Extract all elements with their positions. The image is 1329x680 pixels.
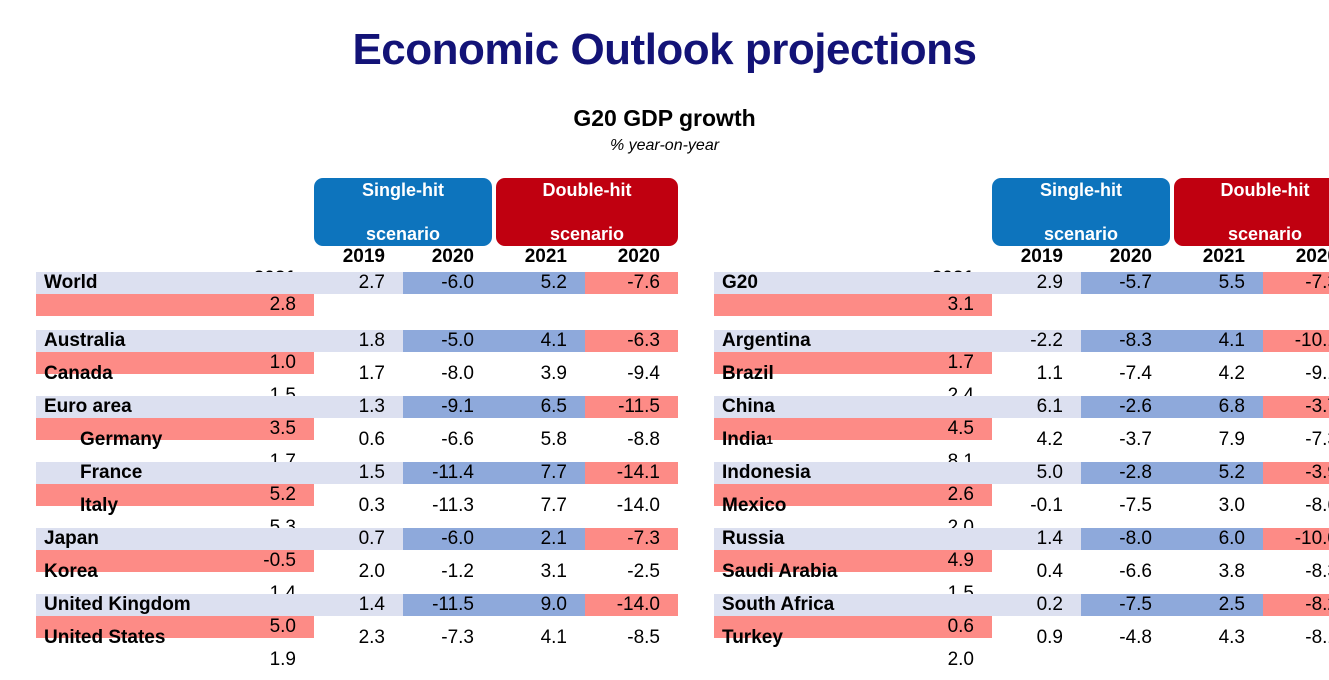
right-table-panel: Single-hit scenario Double-hit scenario … xyxy=(714,178,1329,660)
row-label: United States xyxy=(36,627,314,649)
row-label: G20 xyxy=(714,272,992,294)
table-row: India14.2-3.77.9-7.38.1 xyxy=(714,429,1329,462)
table-row: China6.1-2.66.8-3.74.5 xyxy=(714,396,1329,429)
cell-value: 5.5 xyxy=(1170,272,1263,294)
badge-double-hit-left: Double-hit scenario xyxy=(496,178,678,246)
chart-units-label: % year-on-year xyxy=(0,136,1329,156)
cell-value: 1.1 xyxy=(992,363,1081,385)
cell-value xyxy=(585,305,678,318)
left-table-panel: Single-hit scenario Double-hit scenario … xyxy=(36,178,678,660)
table-spacer-row xyxy=(36,305,678,330)
table-row: Japan0.7-6.02.1-7.3-0.5 xyxy=(36,528,678,561)
badge-single-hit-line1-left: Single-hit xyxy=(362,179,444,201)
cell-value: -7.5 xyxy=(1081,594,1170,616)
cell-value: 7.7 xyxy=(492,462,585,484)
cell-value xyxy=(1263,305,1329,318)
cell-value: 5.8 xyxy=(492,429,585,451)
cell-value: -3.7 xyxy=(1081,429,1170,451)
right-scenario-badges: Single-hit scenario Double-hit scenario xyxy=(714,178,1329,246)
table-row: Argentina-2.2-8.34.1-10.11.7 xyxy=(714,330,1329,363)
row-label: China xyxy=(714,396,992,418)
cell-value: -6.0 xyxy=(403,528,492,550)
badge-single-hit-line1-right: Single-hit xyxy=(1040,179,1122,201)
cell-value xyxy=(314,305,403,318)
table-spacer-row xyxy=(714,305,1329,330)
cell-value xyxy=(492,305,585,318)
cell-value: 2.3 xyxy=(314,627,403,649)
cell-value: 3.1 xyxy=(492,561,585,583)
cell-value: -8.3 xyxy=(1263,561,1329,583)
cell-value: -1.2 xyxy=(403,561,492,583)
left-table-body: World2.7-6.05.2-7.62.8Australia1.8-5.04.… xyxy=(36,272,678,660)
cell-value: 6.1 xyxy=(992,396,1081,418)
cell-value: 6.5 xyxy=(492,396,585,418)
row-label: Mexico xyxy=(714,495,992,517)
chart-subtitle: G20 GDP growth xyxy=(0,104,1329,132)
table-row: Canada1.7-8.03.9-9.41.5 xyxy=(36,363,678,396)
row-label: United Kingdom xyxy=(36,594,314,616)
row-label: Australia xyxy=(36,330,314,352)
table-row: South Africa0.2-7.52.5-8.20.6 xyxy=(714,594,1329,627)
table-row: Italy0.3-11.37.7-14.05.3 xyxy=(36,495,678,528)
cell-value: -11.4 xyxy=(403,462,492,484)
cell-value: -11.3 xyxy=(403,495,492,517)
badge-double-hit-right: Double-hit scenario xyxy=(1174,178,1329,246)
cell-value: -4.8 xyxy=(1081,627,1170,649)
table-row: World2.7-6.05.2-7.62.8 xyxy=(36,272,678,305)
row-label: France xyxy=(36,462,314,484)
row-label: India1 xyxy=(714,429,992,451)
row-label: Saudi Arabia xyxy=(714,561,992,583)
row-label: Argentina xyxy=(714,330,992,352)
cell-value: -3.7 xyxy=(1263,396,1329,418)
cell-value: 4.2 xyxy=(992,429,1081,451)
cell-value: -14.0 xyxy=(585,495,678,517)
cell-value: -7.3 xyxy=(403,627,492,649)
cell-value: 0.4 xyxy=(992,561,1081,583)
cell-value: -6.6 xyxy=(403,429,492,451)
cell-value: 3.0 xyxy=(1170,495,1263,517)
cell-value xyxy=(403,305,492,318)
table-row: Australia1.8-5.04.1-6.31.0 xyxy=(36,330,678,363)
left-column-headers: 2019 2020 2021 2020 2021 xyxy=(36,246,678,272)
cell-value: 4.1 xyxy=(492,330,585,352)
cell-value xyxy=(36,318,314,331)
badge-single-hit-line2-left: scenario xyxy=(362,223,444,245)
row-label: Japan xyxy=(36,528,314,550)
row-label: Turkey xyxy=(714,627,992,649)
cell-value: -9.1 xyxy=(403,396,492,418)
table-row: Germany0.6-6.65.8-8.81.7 xyxy=(36,429,678,462)
cell-value: 1.8 xyxy=(314,330,403,352)
slide-root: Economic Outlook projections G20 GDP gro… xyxy=(0,0,1329,680)
badge-double-hit-line2-right: scenario xyxy=(1221,223,1310,245)
table-row: France1.5-11.47.7-14.15.2 xyxy=(36,462,678,495)
cell-value: -8.6 xyxy=(1263,495,1329,517)
badge-single-hit-right: Single-hit scenario xyxy=(992,178,1170,246)
cell-value: 6.0 xyxy=(1170,528,1263,550)
badge-double-hit-line2-left: scenario xyxy=(543,223,632,245)
cell-value: -6.0 xyxy=(403,272,492,294)
table-row: United Kingdom1.4-11.59.0-14.05.0 xyxy=(36,594,678,627)
cell-value: 1.7 xyxy=(314,363,403,385)
cell-value: -8.8 xyxy=(585,429,678,451)
table-row: United States2.3-7.34.1-8.51.9 xyxy=(36,627,678,660)
cell-value: -11.5 xyxy=(403,594,492,616)
cell-value xyxy=(992,305,1081,318)
cell-value: 4.1 xyxy=(492,627,585,649)
cell-value: -7.3 xyxy=(585,528,678,550)
page-title: Economic Outlook projections xyxy=(0,24,1329,76)
row-label: Korea xyxy=(36,561,314,583)
table-row: Russia1.4-8.06.0-10.04.9 xyxy=(714,528,1329,561)
right-header-single-2021: 2021 xyxy=(1170,246,1263,268)
table-row: Korea2.0-1.23.1-2.51.4 xyxy=(36,561,678,594)
cell-value: 4.2 xyxy=(1170,363,1263,385)
badge-single-hit-line2-right: scenario xyxy=(1040,223,1122,245)
cell-value: -8.1 xyxy=(1263,627,1329,649)
cell-value: 1.5 xyxy=(314,462,403,484)
cell-value: -7.5 xyxy=(1081,495,1170,517)
cell-value: 4.3 xyxy=(1170,627,1263,649)
cell-value: 7.7 xyxy=(492,495,585,517)
table-row: Indonesia5.0-2.85.2-3.92.6 xyxy=(714,462,1329,495)
table-row: Saudi Arabia0.4-6.63.8-8.31.5 xyxy=(714,561,1329,594)
cell-value: -7.3 xyxy=(1263,272,1329,294)
table-row: Brazil1.1-7.44.2-9.12.4 xyxy=(714,363,1329,396)
row-label xyxy=(36,305,314,318)
cell-value: 2.5 xyxy=(1170,594,1263,616)
row-label: South Africa xyxy=(714,594,992,616)
left-header-label-spacer xyxy=(36,246,314,268)
cell-value: -14.0 xyxy=(585,594,678,616)
table-row: Turkey0.9-4.84.3-8.12.0 xyxy=(714,627,1329,660)
row-label xyxy=(714,305,992,318)
cell-value: -2.8 xyxy=(1081,462,1170,484)
badge-single-hit-left: Single-hit scenario xyxy=(314,178,492,246)
right-table-body: G202.9-5.75.5-7.33.1Argentina-2.2-8.34.1… xyxy=(714,272,1329,660)
row-label: Italy xyxy=(36,495,314,517)
cell-value: 3.9 xyxy=(492,363,585,385)
right-header-label-spacer xyxy=(714,246,992,268)
cell-value: -5.0 xyxy=(403,330,492,352)
cell-value xyxy=(1170,305,1263,318)
left-header-2019: 2019 xyxy=(314,246,403,268)
row-label: Germany xyxy=(36,429,314,451)
cell-value: -6.3 xyxy=(585,330,678,352)
cell-value: 0.9 xyxy=(992,627,1081,649)
cell-value: 0.2 xyxy=(992,594,1081,616)
table-row: G202.9-5.75.5-7.33.1 xyxy=(714,272,1329,305)
cell-value: -8.0 xyxy=(403,363,492,385)
cell-value: -9.4 xyxy=(585,363,678,385)
cell-value: 2.9 xyxy=(992,272,1081,294)
right-header-double-2020: 2020 xyxy=(1263,246,1329,268)
cell-value: -0.1 xyxy=(992,495,1081,517)
cell-value: 2.0 xyxy=(314,561,403,583)
cell-value: 6.8 xyxy=(1170,396,1263,418)
cell-value: 1.3 xyxy=(314,396,403,418)
cell-value: 1.4 xyxy=(992,528,1081,550)
row-label: Indonesia xyxy=(714,462,992,484)
cell-value: 1.4 xyxy=(314,594,403,616)
cell-value: 1.9 xyxy=(36,649,314,671)
cell-value: -10.0 xyxy=(1263,528,1329,550)
cell-value: 2.1 xyxy=(492,528,585,550)
cell-value: 0.6 xyxy=(314,429,403,451)
cell-value: -8.3 xyxy=(1081,330,1170,352)
table-row: Euro area1.3-9.16.5-11.53.5 xyxy=(36,396,678,429)
left-header-single-2021: 2021 xyxy=(492,246,585,268)
cell-value: 2.0 xyxy=(714,649,992,671)
cell-value: -10.1 xyxy=(1263,330,1329,352)
badge-double-hit-line1-right: Double-hit xyxy=(1221,179,1310,201)
cell-value: 0.3 xyxy=(314,495,403,517)
left-header-single-2020: 2020 xyxy=(403,246,492,268)
cell-value: -8.0 xyxy=(1081,528,1170,550)
cell-value: -2.2 xyxy=(992,330,1081,352)
cell-value: 5.2 xyxy=(1170,462,1263,484)
cell-value: -8.5 xyxy=(585,627,678,649)
cell-value: 0.7 xyxy=(314,528,403,550)
right-column-headers: 2019 2020 2021 2020 2021 xyxy=(714,246,1329,272)
cell-value: 3.8 xyxy=(1170,561,1263,583)
row-label: Canada xyxy=(36,363,314,385)
cell-value: -9.1 xyxy=(1263,363,1329,385)
right-header-2019: 2019 xyxy=(992,246,1081,268)
cell-value: -5.7 xyxy=(1081,272,1170,294)
footnote-marker: 1 xyxy=(766,434,773,447)
cell-value xyxy=(1081,305,1170,318)
row-label: Russia xyxy=(714,528,992,550)
cell-value: 5.2 xyxy=(492,272,585,294)
cell-value: -2.6 xyxy=(1081,396,1170,418)
cell-value: -7.6 xyxy=(585,272,678,294)
row-label: World xyxy=(36,272,314,294)
cell-value: 9.0 xyxy=(492,594,585,616)
left-scenario-badges: Single-hit scenario Double-hit scenario xyxy=(36,178,678,246)
cell-value: -11.5 xyxy=(585,396,678,418)
cell-value: -14.1 xyxy=(585,462,678,484)
cell-value xyxy=(714,318,992,331)
cell-value: 4.1 xyxy=(1170,330,1263,352)
cell-value: 7.9 xyxy=(1170,429,1263,451)
cell-value: 2.7 xyxy=(314,272,403,294)
cell-value: 5.0 xyxy=(992,462,1081,484)
left-header-double-2020: 2020 xyxy=(585,246,678,268)
cell-value: -3.9 xyxy=(1263,462,1329,484)
cell-value: -8.2 xyxy=(1263,594,1329,616)
cell-value: -7.4 xyxy=(1081,363,1170,385)
cell-value: -2.5 xyxy=(585,561,678,583)
row-label: Euro area xyxy=(36,396,314,418)
cell-value: -6.6 xyxy=(1081,561,1170,583)
badge-double-hit-line1-left: Double-hit xyxy=(543,179,632,201)
table-row: Mexico-0.1-7.53.0-8.62.0 xyxy=(714,495,1329,528)
right-header-single-2020: 2020 xyxy=(1081,246,1170,268)
row-label: Brazil xyxy=(714,363,992,385)
cell-value: -7.3 xyxy=(1263,429,1329,451)
